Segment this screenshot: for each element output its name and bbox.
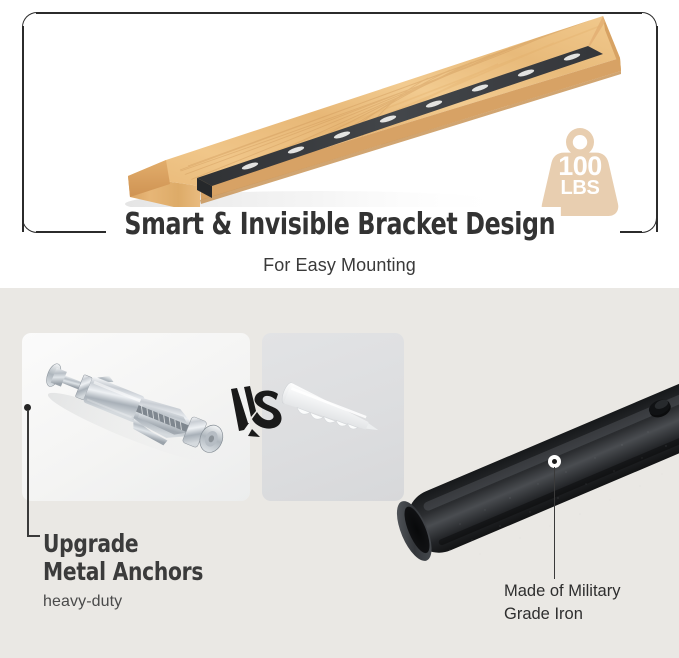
- metal-anchors-title-line-2: Metal Anchors: [43, 558, 295, 586]
- headline-wrapper: Smart & Invisible Bracket Design: [0, 207, 679, 242]
- vs-text-graphic: [226, 383, 288, 447]
- military-iron-callout: Made of Military Grade Iron: [504, 580, 679, 626]
- page-title: Smart & Invisible Bracket Design: [119, 207, 560, 242]
- metal-anchors-subtitle: heavy-duty: [43, 593, 323, 611]
- metal-anchors-callout: Upgrade Metal Anchors heavy-duty: [43, 530, 323, 611]
- metal-anchor-leader-line-horizontal: [27, 535, 40, 537]
- military-iron-line-1: Made of Military: [504, 580, 679, 603]
- metal-anchor-leader-line-vertical: [27, 410, 29, 536]
- frame-border-right: [656, 26, 658, 232]
- rod-leader-line: [554, 467, 556, 579]
- page-subtitle: For Easy Mounting: [0, 255, 679, 276]
- top-feature-panel: 100 LBS Smart & Invisible Bracket Design…: [0, 0, 679, 288]
- metal-anchors-title-line-1: Upgrade: [43, 530, 295, 558]
- metal-anchor-photo: [22, 333, 250, 501]
- vs-badge: [226, 383, 288, 447]
- military-iron-line-2: Grade Iron: [504, 603, 679, 626]
- black-iron-rod-image: [390, 288, 679, 590]
